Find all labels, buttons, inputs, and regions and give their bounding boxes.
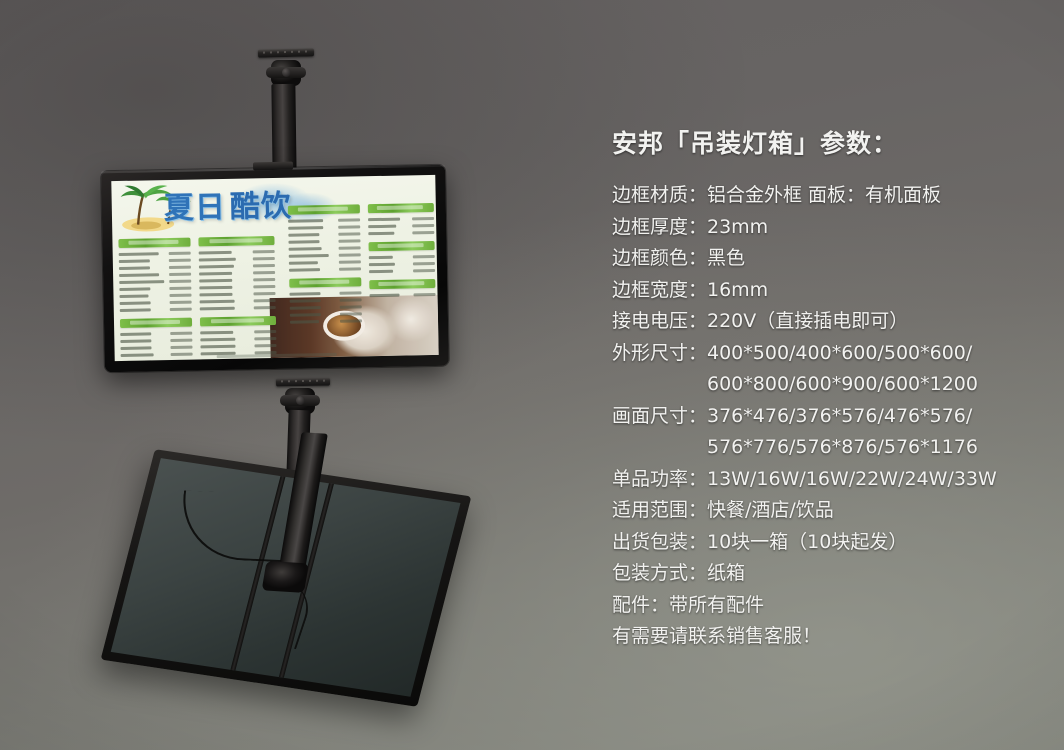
menu-item-price <box>169 279 191 282</box>
menu-item-row <box>289 265 361 272</box>
menu-item-name <box>288 226 323 230</box>
menu-column-mid-right <box>288 204 362 330</box>
menu-item-name <box>199 271 232 275</box>
hanging-lightbox: 夏日酷饮 <box>101 165 449 373</box>
menu-item-row <box>369 291 435 298</box>
menu-item-name <box>289 247 322 251</box>
menu-item-price <box>171 359 193 361</box>
menu-item-price <box>171 352 193 355</box>
menu-item-name <box>370 293 400 297</box>
menu-item-name <box>368 224 396 228</box>
menu-title-part2: 酷饮 <box>229 189 292 225</box>
menu-item-row <box>120 306 192 313</box>
menu-item-row <box>200 304 276 311</box>
spec-line: 单品功率：13W/16W/16W/22W/24W/33W <box>612 464 1042 496</box>
menu-category-header <box>368 203 434 213</box>
menu-item-name <box>199 257 236 261</box>
menu-item-price <box>170 338 192 341</box>
menu-item-name <box>289 261 318 265</box>
menu-item-price <box>338 239 360 242</box>
menu-category-header <box>198 236 274 246</box>
menu-item-name <box>119 273 159 277</box>
menu-item-price <box>412 216 434 219</box>
menu-item-price <box>338 218 360 221</box>
menu-column-left <box>118 238 193 361</box>
menu-item-name <box>290 320 319 324</box>
menu-item-row <box>121 358 193 361</box>
menu-item-name <box>120 346 151 350</box>
menu-item-price <box>170 331 192 334</box>
menu-item-price <box>413 261 435 264</box>
ceiling-mount-plate <box>258 48 314 57</box>
menu-item-name <box>199 250 232 254</box>
spec-line: 画面尺寸：376*476/376*576/476*576/ <box>612 401 1042 433</box>
menu-item-price <box>340 298 362 301</box>
menu-item-price <box>339 246 361 249</box>
menu-item-name <box>120 339 151 343</box>
menu-item-name <box>290 299 321 303</box>
mount-plate-lower <box>276 378 330 387</box>
menu-item-name <box>199 264 234 268</box>
menu-item-price <box>169 286 191 289</box>
menu-item-price <box>339 291 361 294</box>
menu-item-name <box>288 233 319 237</box>
menu-item-name <box>289 292 320 296</box>
menu-item-price <box>413 268 435 271</box>
menu-item-price <box>412 230 434 233</box>
menu-item-name <box>368 231 394 235</box>
menu-item-price <box>413 292 435 295</box>
menu-category-header <box>118 238 190 248</box>
menu-item-price <box>339 253 361 256</box>
menu-item-price <box>253 284 275 287</box>
menu-category-header <box>369 241 435 251</box>
menu-item-name <box>368 217 401 221</box>
menu-item-name <box>119 287 150 291</box>
menu-item-price <box>254 305 276 308</box>
menu-item-price <box>254 336 276 339</box>
menu-item-name <box>200 344 235 348</box>
menu-item-price <box>255 357 277 360</box>
menu-item-name <box>290 306 321 310</box>
menu-item-price <box>339 260 361 263</box>
menu-item-price <box>170 300 192 303</box>
menu-item-name <box>119 294 148 298</box>
menu-item-name <box>199 292 232 296</box>
spec-line: 边框颜色：黑色 <box>612 243 1042 275</box>
menu-item-price <box>340 305 362 308</box>
menu-item-name <box>200 306 235 310</box>
spec-line: 边框厚度：23mm <box>612 212 1042 244</box>
rear-mount-clamp <box>262 561 309 593</box>
menu-item-price <box>340 312 362 315</box>
menu-item-rows <box>369 291 435 298</box>
menu-item-name <box>288 240 319 244</box>
menu-item-name <box>119 259 150 263</box>
menu-item-price <box>253 277 275 280</box>
menu-category-header <box>120 318 192 328</box>
menu-item-name <box>121 360 152 361</box>
menu-item-name <box>289 268 320 272</box>
menu-item-rows <box>120 330 193 361</box>
spec-line: 边框材质：铝合金外框 面板：有机面板 <box>612 180 1042 212</box>
menu-item-price <box>253 291 275 294</box>
spec-line: 576*776/576*876/576*1176 <box>612 432 1042 464</box>
menu-item-price <box>254 343 276 346</box>
menu-item-name <box>369 269 393 272</box>
product-image-canvas: 夏日酷饮 安邦「吊装灯箱」参数： 边框材质：铝合金外框 面板：有机面板 <box>0 0 1064 750</box>
menu-item-rows <box>368 215 434 236</box>
menu-column-mid-left <box>198 236 277 361</box>
spec-line: 适用范围：快餐/酒店/饮品 <box>612 495 1042 527</box>
spec-line: 接电电压：220V（直接插电即可） <box>612 306 1042 338</box>
menu-item-name <box>119 266 150 270</box>
menu-item-price <box>253 257 275 260</box>
menu-item-row <box>290 317 362 324</box>
menu-item-name <box>199 278 232 282</box>
menu-item-name <box>121 353 154 357</box>
menu-item-price <box>170 345 192 348</box>
lightbox-menu-screen: 夏日酷饮 <box>111 175 438 361</box>
menu-item-price <box>339 267 361 270</box>
menu-item-name <box>120 308 151 312</box>
spec-line: 包装方式：纸箱 <box>612 558 1042 590</box>
swivel-joint-top <box>271 60 301 86</box>
menu-item-price <box>254 329 276 332</box>
spec-line: 600*800/600*900/600*1200 <box>612 369 1042 401</box>
menu-item-rows <box>199 248 276 311</box>
menu-item-name <box>369 255 393 258</box>
menu-item-rows <box>369 253 435 274</box>
spec-line: 外形尺寸：400*500/400*600/500*600/ <box>612 338 1042 370</box>
spec-line: 边框宽度：16mm <box>612 275 1042 307</box>
menu-item-price <box>412 223 434 226</box>
menu-item-rows <box>289 289 362 324</box>
menu-item-name <box>120 301 151 305</box>
menu-item-price <box>338 225 360 228</box>
menu-item-name <box>119 280 164 284</box>
menu-item-name <box>200 330 233 334</box>
menu-item-name <box>120 332 151 336</box>
menu-item-name <box>119 252 159 256</box>
menu-item-row <box>369 267 435 274</box>
menu-item-price <box>253 270 275 273</box>
menu-item-row <box>368 229 434 236</box>
menu-item-price <box>169 272 191 275</box>
menu-category-header <box>289 277 361 287</box>
menu-item-name <box>201 358 236 361</box>
menu-item-row <box>369 253 435 260</box>
menu-item-rows <box>288 216 361 272</box>
spec-title: 安邦「吊装灯箱」参数： <box>612 124 1042 160</box>
menu-item-price <box>169 251 191 254</box>
menu-item-price <box>340 319 362 322</box>
menu-item-name <box>369 262 395 266</box>
spec-line: 有需要请联系销售客服！ <box>612 621 1042 653</box>
rear-lightbox <box>101 449 472 707</box>
menu-item-price <box>253 264 275 267</box>
menu-item-price <box>169 293 191 296</box>
spec-line: 出货包装：10块一箱（10块起发） <box>612 527 1042 559</box>
menu-title-part1: 夏日 <box>163 190 226 226</box>
spec-line-list: 边框材质：铝合金外框 面板：有机面板边框厚度：23mm边框颜色：黑色边框宽度：1… <box>612 180 1042 653</box>
menu-item-price <box>413 254 435 257</box>
menu-category-header <box>200 316 276 326</box>
menu-item-row <box>369 260 435 267</box>
menu-item-price <box>338 232 360 235</box>
menu-item-name <box>200 299 235 303</box>
menu-item-name <box>199 285 232 289</box>
menu-item-name <box>289 253 329 257</box>
menu-item-price <box>254 298 276 301</box>
menu-item-price <box>253 250 275 253</box>
menu-item-price <box>169 265 191 268</box>
menu-item-price <box>170 307 192 310</box>
menu-item-price <box>169 258 191 261</box>
spec-panel: 安邦「吊装灯箱」参数： 边框材质：铝合金外框 面板：有机面板边框厚度：23mm边… <box>612 124 1042 653</box>
spec-line: 配件：带所有配件 <box>612 590 1042 622</box>
menu-category-header <box>369 279 435 289</box>
menu-item-name <box>288 219 323 223</box>
lightbox-top-tab <box>253 162 293 171</box>
menu-column-right <box>368 203 436 304</box>
menu-item-rows <box>119 250 192 313</box>
menu-category-header <box>288 204 360 214</box>
menu-item-name <box>290 313 321 317</box>
menu-item-name <box>200 337 235 341</box>
